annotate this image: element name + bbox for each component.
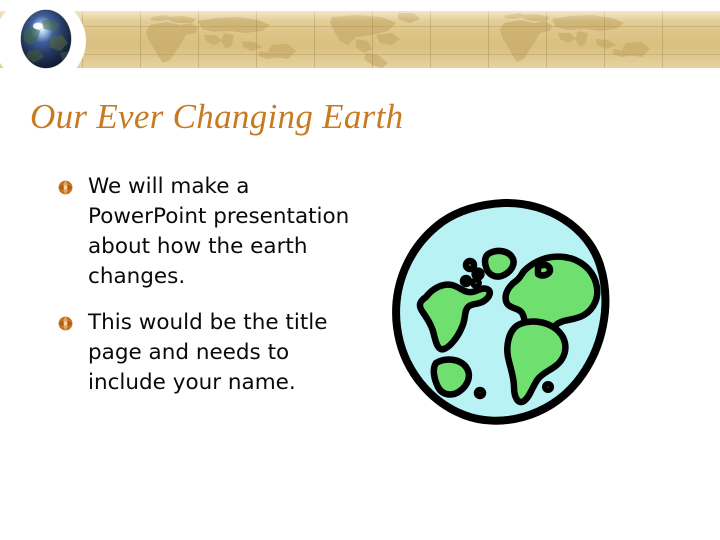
diamond-bullet-icon [58, 316, 73, 331]
list-item: This would be the title page and needs t… [58, 308, 358, 398]
list-item: We will make a PowerPoint presentation a… [58, 172, 358, 292]
globe-logo-icon [16, 7, 76, 71]
banner-highlight [0, 11, 720, 21]
list-item-text: This would be the title page and needs t… [88, 310, 327, 395]
earth-clipart [388, 197, 620, 431]
body-text-block: We will make a PowerPoint presentation a… [58, 172, 358, 414]
header-banner [0, 11, 720, 68]
list-item-text: We will make a PowerPoint presentation a… [88, 174, 349, 289]
page-title: Our Ever Changing Earth [30, 96, 670, 138]
diamond-bullet-icon [58, 180, 73, 195]
